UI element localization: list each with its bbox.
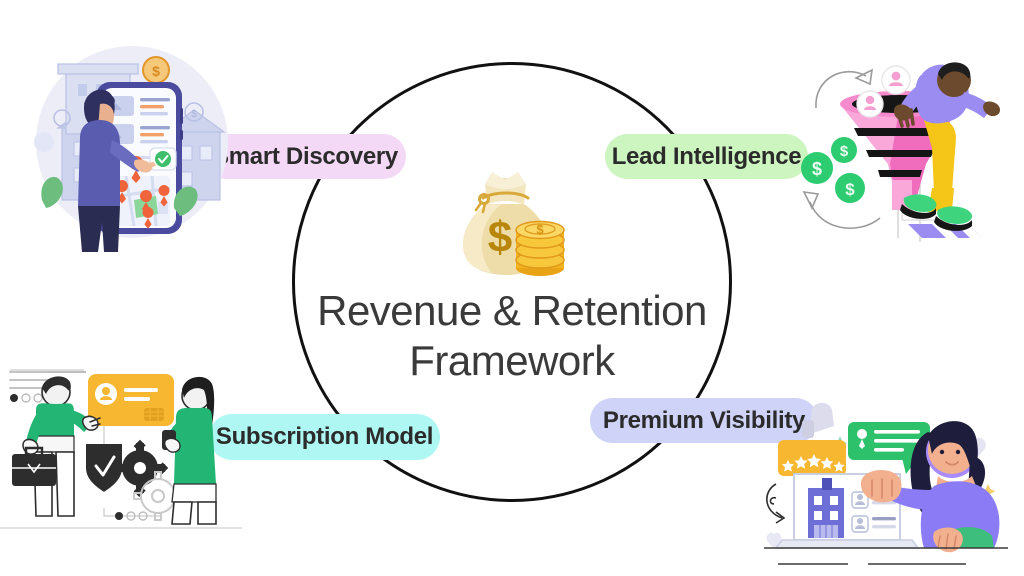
illustration-smart-discovery: $ $	[22, 30, 237, 260]
illustration-subscription-model	[0, 356, 242, 556]
diagram-canvas: $ $ Revenue & Retention Framework Smart …	[0, 0, 1024, 576]
svg-text:$: $	[536, 222, 544, 237]
illustration-lead-intelligence: $ $ $	[792, 52, 1014, 260]
page-title-line1: Revenue & Retention	[312, 286, 712, 336]
svg-text:$: $	[488, 213, 512, 262]
money-bag-icon: $ $	[452, 170, 568, 278]
node-label-lead-intelligence[interactable]: Lead Intelligence	[605, 134, 808, 179]
page-title-line2: Framework	[312, 336, 712, 386]
svg-text:$: $	[191, 109, 197, 120]
svg-text:$: $	[845, 180, 855, 199]
svg-text:$: $	[152, 63, 160, 79]
node-label-subscription-model[interactable]: Subscription Model	[209, 414, 440, 460]
page-title: Revenue & Retention Framework	[312, 286, 712, 386]
illustration-premium-visibility	[752, 392, 1020, 574]
svg-text:$: $	[812, 159, 822, 179]
svg-text:$: $	[840, 143, 849, 160]
